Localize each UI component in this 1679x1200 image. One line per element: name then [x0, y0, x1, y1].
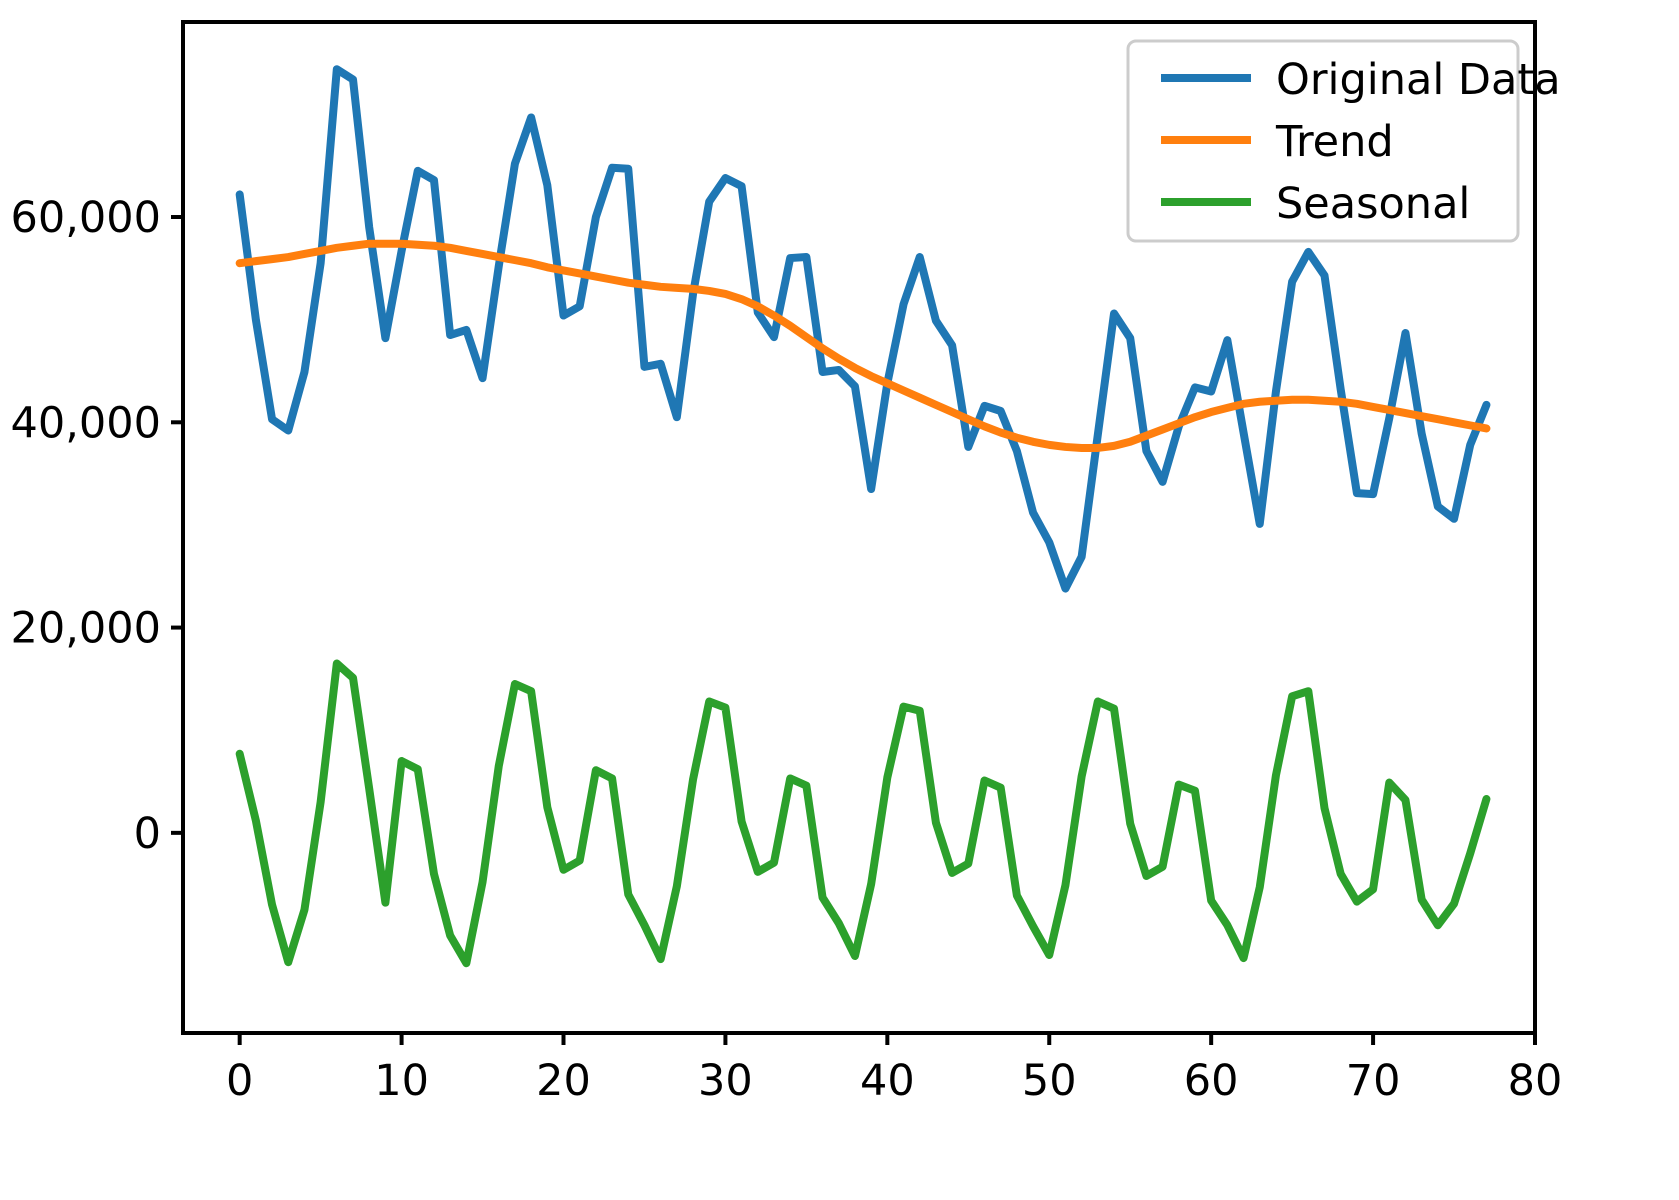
x-tick-label: 20 — [536, 1056, 591, 1106]
x-tick-label: 70 — [1346, 1056, 1401, 1106]
decomposition-line-chart: 020,00040,00060,000 01020304050607080 Or… — [0, 0, 1679, 1200]
y-tick-label: 0 — [134, 809, 161, 859]
y-tick-label: 60,000 — [11, 193, 161, 243]
legend-label-seasonal[interactable]: Seasonal — [1276, 179, 1470, 229]
x-tick-label: 30 — [698, 1056, 753, 1106]
x-tick-label: 60 — [1184, 1056, 1239, 1106]
x-tick-label: 50 — [1022, 1056, 1077, 1106]
chart-legend[interactable]: Original DataTrendSeasonal — [1128, 41, 1561, 241]
x-tick-label: 10 — [374, 1056, 429, 1106]
y-tick-label: 20,000 — [11, 604, 161, 654]
legend-label-original-data[interactable]: Original Data — [1276, 55, 1561, 105]
x-tick-label: 40 — [860, 1056, 915, 1106]
matplotlib-figure: 020,00040,00060,000 01020304050607080 Or… — [0, 0, 1679, 1200]
legend-label-trend[interactable]: Trend — [1275, 117, 1394, 167]
y-tick-label: 40,000 — [11, 398, 161, 448]
x-tick-label: 0 — [226, 1056, 253, 1106]
x-tick-label: 80 — [1508, 1056, 1563, 1106]
